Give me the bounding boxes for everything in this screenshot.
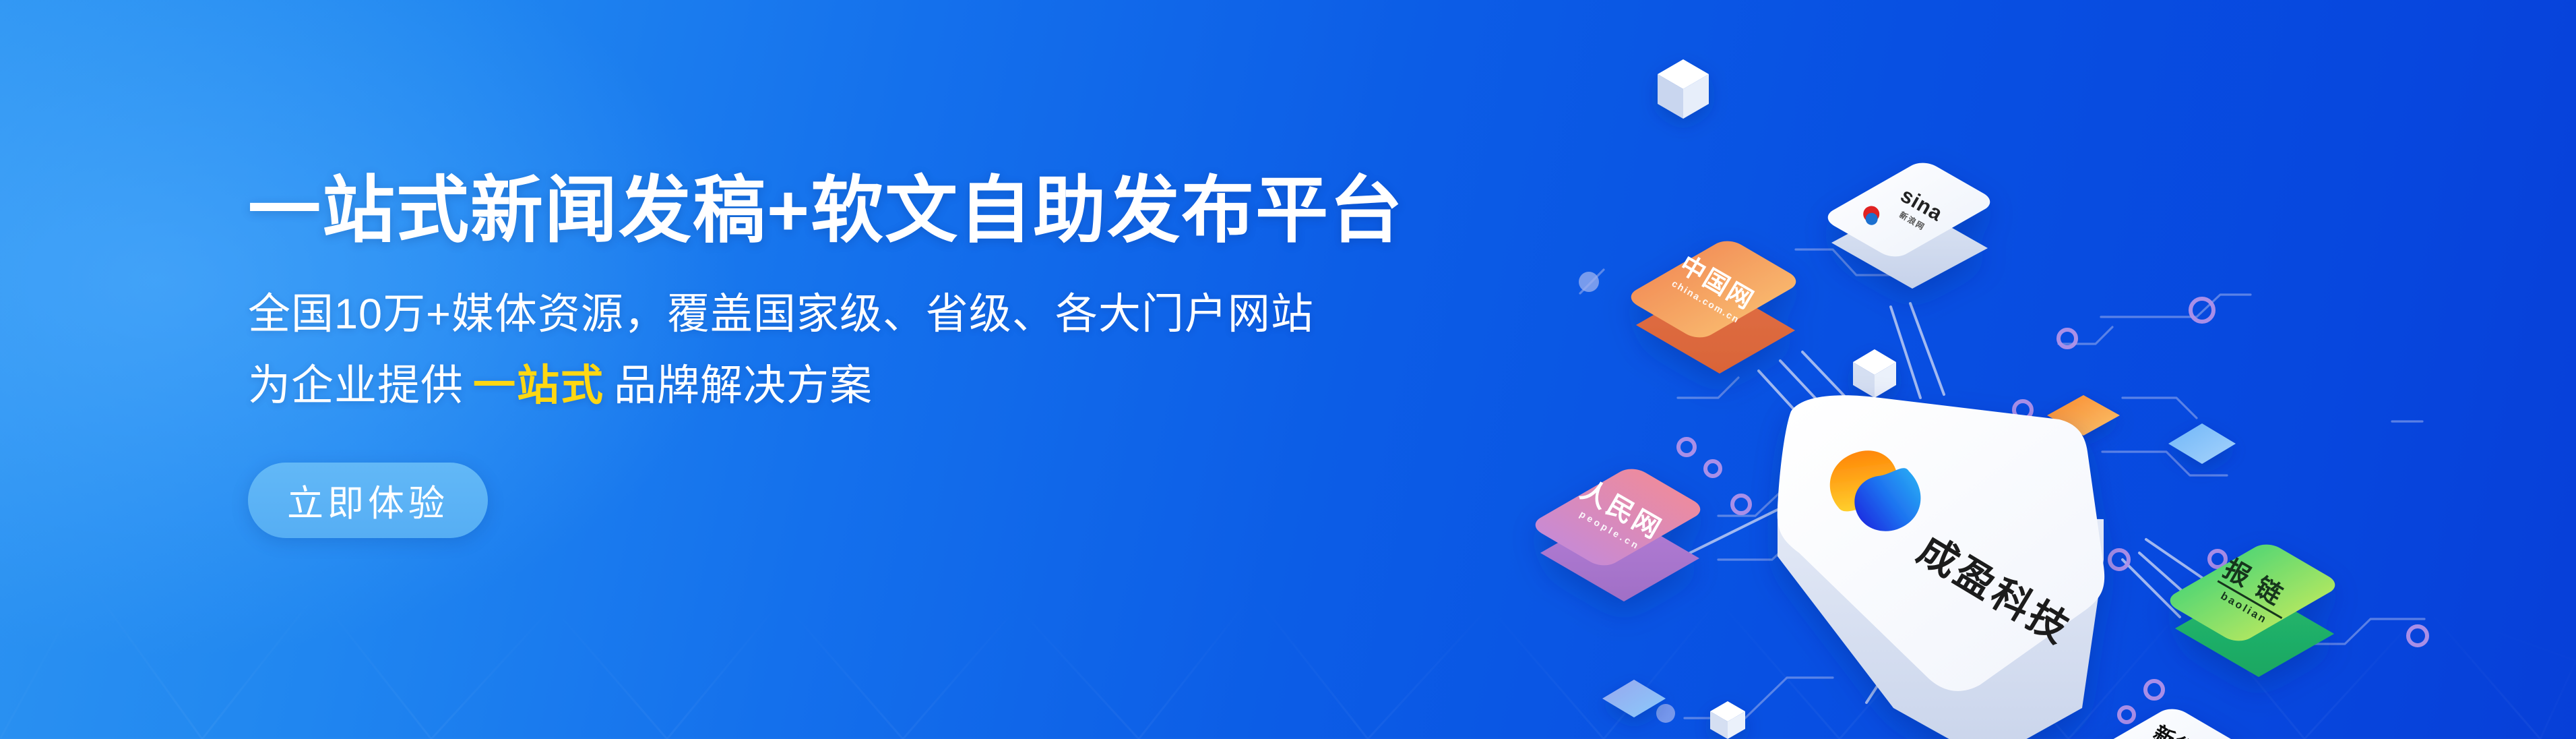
- decor-cube-2: [1710, 701, 1745, 739]
- diamond-periwinkle: [1602, 680, 1666, 717]
- banner-subtitle-line-2: 为企业提供一站式品牌解决方案: [248, 351, 1582, 420]
- cta-button[interactable]: 立即体验: [248, 463, 488, 538]
- diamond-light-blue: [2168, 423, 2236, 464]
- banner-headline: 一站式新闻发稿+软文自助发布平台: [248, 167, 1582, 253]
- banner-subtitle-line-1: 全国10万+媒体资源，覆盖国家级、省级、各大门户网站: [248, 280, 1582, 349]
- subtitle-2-suffix: 品牌解决方案: [614, 362, 873, 409]
- media-card-zhongguowang: 中国网 china.com.cn: [1631, 241, 1796, 374]
- center-hexagon-card: 成盈科技: [1778, 395, 2104, 739]
- decor-cube-3: [1658, 59, 1709, 119]
- promo-banner: 一站式新闻发稿+软文自助发布平台 全国10万+媒体资源，覆盖国家级、省级、各大门…: [0, 0, 2576, 739]
- decor-cube-1: [1853, 349, 1896, 398]
- subtitle-2-prefix: 为企业提供: [248, 362, 464, 409]
- media-card-xinhua: 新华网 news.cn: [2076, 709, 2241, 739]
- banner-copy-block: 一站式新闻发稿+软文自助发布平台 全国10万+媒体资源，覆盖国家级、省级、各大门…: [248, 167, 1582, 538]
- media-card-baolian: 报链 baolian: [2170, 545, 2335, 677]
- subtitle-2-highlight: 一站式: [473, 362, 604, 409]
- media-network-illustration: 中国网 china.com.cn sina 新浪网: [1516, 20, 2576, 739]
